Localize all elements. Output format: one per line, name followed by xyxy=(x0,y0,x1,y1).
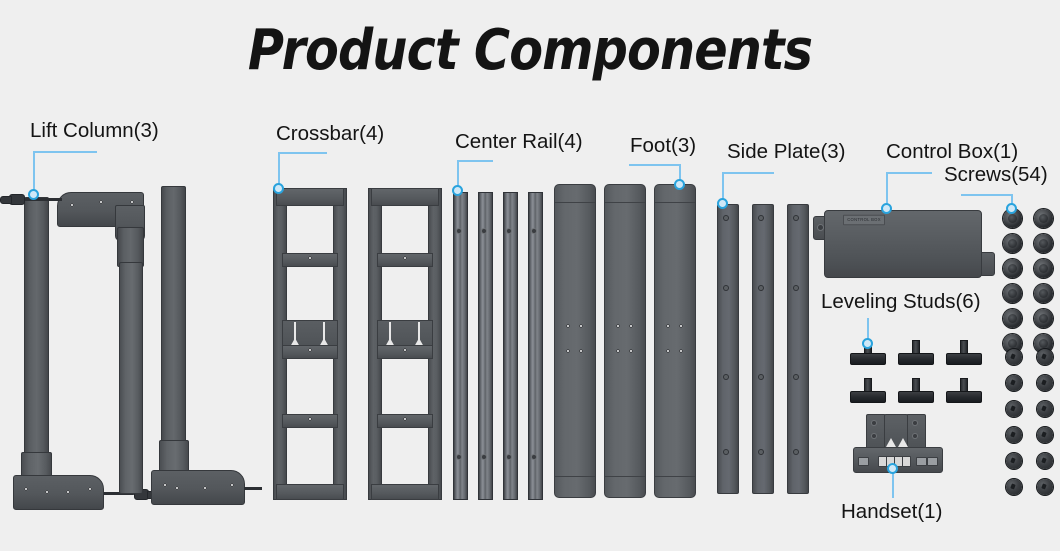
lift-column-3-upper xyxy=(161,186,186,448)
leveling-stud-pad xyxy=(946,391,982,403)
crossbar-leader-v xyxy=(278,152,280,186)
control-box-plate: CONTROL BOX xyxy=(843,215,885,226)
label-lift-column: Lift Column(3) xyxy=(30,119,159,143)
center-rail-hole xyxy=(532,229,536,233)
handset-bracket-hole xyxy=(872,434,876,438)
lift-column-3-base-bracket xyxy=(151,470,245,505)
bracket-hole xyxy=(99,200,103,204)
center-rail-3 xyxy=(503,192,518,500)
lift-column-1-upper xyxy=(24,197,49,457)
handset-bracket-right xyxy=(906,414,926,450)
center-rail-hole xyxy=(532,455,536,459)
side-plate-hole xyxy=(724,450,728,454)
label-handset: Handset(1) xyxy=(841,500,942,524)
leveling-studs-leader-v xyxy=(867,318,869,340)
handset-up-button xyxy=(916,457,927,466)
lift-column-2-lower xyxy=(119,262,143,494)
lift-column-1-top-cable xyxy=(22,198,62,201)
center-rail-2 xyxy=(478,192,493,500)
side-plate-hole xyxy=(724,286,728,290)
side-plate-hole xyxy=(794,286,798,290)
screw-large xyxy=(1034,209,1053,228)
screw-small xyxy=(1006,479,1022,495)
center-rail-1 xyxy=(453,192,468,500)
label-center-rail: Center Rail(4) xyxy=(455,130,583,154)
label-crossbar: Crossbar(4) xyxy=(276,122,384,146)
screw-small xyxy=(1037,479,1053,495)
screw-large xyxy=(1003,309,1022,328)
handset-key-left xyxy=(858,457,869,466)
crossbar-rung xyxy=(371,484,439,500)
control-box-leader-v xyxy=(886,172,888,204)
handset-down-button xyxy=(927,457,938,466)
handset-bracket-left xyxy=(866,414,886,450)
side-plate-callout-dot xyxy=(717,198,728,209)
crossbar-hole xyxy=(403,417,407,421)
side-plate-hole xyxy=(724,375,728,379)
leveling-stud-pad xyxy=(850,353,886,365)
foot-cap-line xyxy=(605,202,645,203)
center-rail-hole xyxy=(507,229,511,233)
screw-large xyxy=(1034,234,1053,253)
control-box-leader-h xyxy=(886,172,932,174)
bracket-hole xyxy=(163,483,167,487)
center-rail-leader-v xyxy=(457,160,459,188)
screw-large xyxy=(1003,259,1022,278)
screw-small xyxy=(1006,401,1022,417)
leveling-stud-pad xyxy=(898,353,934,365)
lift-column-1-top-plug-tip xyxy=(0,196,12,204)
foot-base-line xyxy=(605,476,645,477)
leveling-studs-callout-dot xyxy=(862,338,873,349)
screws-callout-dot xyxy=(1006,203,1017,214)
bracket-hole xyxy=(175,486,179,490)
screw-small xyxy=(1006,427,1022,443)
crossbar-hole xyxy=(308,417,312,421)
side-plate-hole xyxy=(759,450,763,454)
screw-large xyxy=(1034,309,1053,328)
label-screws: Screws(54) xyxy=(944,163,1048,187)
foot-hole xyxy=(566,324,570,328)
handset-callout-dot xyxy=(887,463,898,474)
crossbar-rung xyxy=(276,484,344,500)
foot-1 xyxy=(554,184,596,498)
screw-small xyxy=(1037,349,1053,365)
handset-bracket-hole xyxy=(913,421,917,425)
side-plate-hole xyxy=(759,286,763,290)
crossbar-hole xyxy=(403,256,407,260)
foot-hole xyxy=(579,349,583,353)
page-title: Product Components xyxy=(64,18,997,83)
label-control-box: Control Box(1) xyxy=(886,140,1018,164)
center-rail-hole xyxy=(507,455,511,459)
foot-hole xyxy=(579,324,583,328)
handset-prong-base xyxy=(886,438,896,447)
lift-column-1-base-bracket xyxy=(13,475,104,510)
lift-column-callout-dot xyxy=(28,189,39,200)
bracket-hole xyxy=(203,486,207,490)
foot-2 xyxy=(604,184,646,498)
foot-hole xyxy=(679,349,683,353)
center-rail-callout-dot xyxy=(452,185,463,196)
foot-base-line xyxy=(655,476,695,477)
foot-cap-line xyxy=(555,202,595,203)
bracket-hole xyxy=(88,487,92,491)
side-plate-1 xyxy=(717,204,739,494)
side-plate-hole xyxy=(759,216,763,220)
foot-hole xyxy=(679,324,683,328)
side-plate-hole xyxy=(794,450,798,454)
foot-base-line xyxy=(555,476,595,477)
side-plate-hole xyxy=(794,216,798,220)
bracket-hole xyxy=(70,203,74,207)
handset-prong-base xyxy=(898,438,908,447)
crossbar-rung xyxy=(371,188,439,206)
crossbar-callout-dot xyxy=(273,183,284,194)
lift-column-2-upper xyxy=(117,227,144,267)
control-box-callout-dot xyxy=(881,203,892,214)
screw-small xyxy=(1006,453,1022,469)
screw-small xyxy=(1037,375,1053,391)
label-foot: Foot(3) xyxy=(630,134,696,158)
side-plate-hole xyxy=(724,216,728,220)
lift-column-leader-h xyxy=(33,151,97,153)
screw-small xyxy=(1006,349,1022,365)
foot-hole xyxy=(629,349,633,353)
bracket-hole xyxy=(230,483,234,487)
screw-small xyxy=(1037,427,1053,443)
screw-small xyxy=(1037,453,1053,469)
foot-hole xyxy=(616,349,620,353)
center-rail-hole xyxy=(457,455,461,459)
foot-hole xyxy=(616,324,620,328)
center-rail-hole xyxy=(457,229,461,233)
screw-large xyxy=(1034,284,1053,303)
screw-large xyxy=(1003,234,1022,253)
center-rail-hole xyxy=(482,229,486,233)
crossbar-rung xyxy=(276,188,344,206)
foot-hole xyxy=(566,349,570,353)
center-rail-4 xyxy=(528,192,543,500)
bracket-hole xyxy=(24,487,28,491)
center-rail-leader-h xyxy=(457,160,493,162)
foot-hole xyxy=(666,324,670,328)
handset-bracket-hole xyxy=(872,421,876,425)
leveling-stud-pad xyxy=(946,353,982,365)
screw-small xyxy=(1037,401,1053,417)
label-side-plate: Side Plate(3) xyxy=(727,140,846,164)
foot-hole xyxy=(666,349,670,353)
leveling-stud-pad xyxy=(850,391,886,403)
lift-column-leader-v xyxy=(33,151,35,193)
foot-cap-line xyxy=(655,202,695,203)
side-plate-hole xyxy=(759,375,763,379)
foot-3 xyxy=(654,184,696,498)
handset-preset-button xyxy=(902,456,911,467)
foot-leader-h xyxy=(629,164,680,166)
handset-bracket-hole xyxy=(913,434,917,438)
side-plate-3 xyxy=(787,204,809,494)
side-plate-2 xyxy=(752,204,774,494)
crossbar-hole xyxy=(308,256,312,260)
screw-large xyxy=(1003,284,1022,303)
side-plate-leader-v xyxy=(722,172,724,200)
screws-leader-h xyxy=(961,194,1012,196)
side-plate-hole xyxy=(794,375,798,379)
foot-hole xyxy=(629,324,633,328)
center-rail-hole xyxy=(482,455,486,459)
bracket-hole xyxy=(130,200,134,204)
screw-small xyxy=(1006,375,1022,391)
bracket-hole xyxy=(45,490,49,494)
crossbar-leader-h xyxy=(278,152,327,154)
product-components-diagram: Product Components xyxy=(0,0,1060,551)
bracket-hole xyxy=(66,490,70,494)
label-leveling-studs: Leveling Studs(6) xyxy=(821,290,981,314)
screw-large xyxy=(1034,259,1053,278)
leveling-stud-pad xyxy=(898,391,934,403)
side-plate-leader-h xyxy=(722,172,774,174)
crossbar-hole xyxy=(308,348,312,352)
crossbar-hole xyxy=(403,348,407,352)
foot-callout-dot xyxy=(674,179,685,190)
handset-leader-v xyxy=(892,472,894,498)
lift-column-3-cable xyxy=(244,487,262,490)
control-box-tab-hole xyxy=(818,225,823,230)
